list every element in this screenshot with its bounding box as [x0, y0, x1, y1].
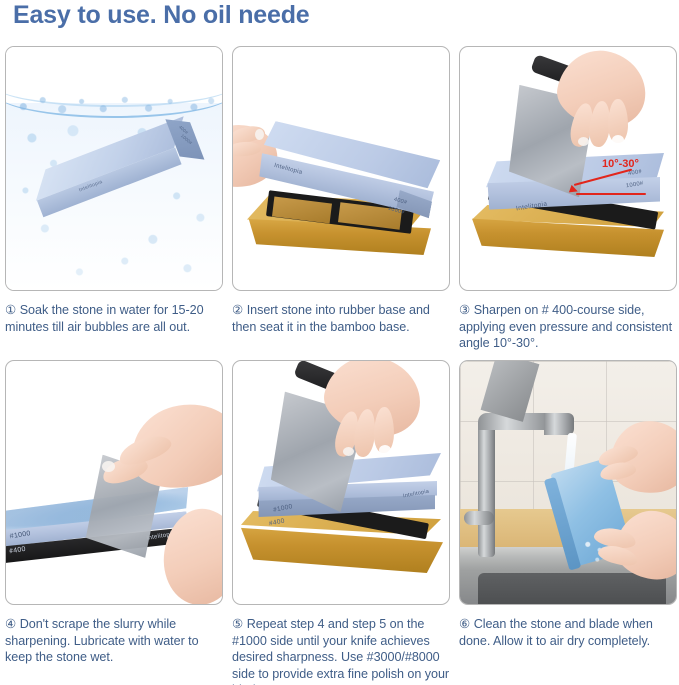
page-title: Easy to use. No oil neede — [13, 1, 309, 30]
step-photo-3: Intelitopia 400# 1000# — [459, 46, 677, 291]
step-caption-6: ⑥ Clean the stone and blade when done. A… — [459, 616, 677, 649]
faucet-spout — [544, 413, 574, 435]
step-card-5: #1000 #400 Intelitopia — [232, 360, 450, 685]
scene-rinse-stone — [460, 361, 676, 604]
fingernail — [102, 461, 115, 472]
step-card-1: Intelitopia 400# 1000# ① Soak the stone … — [5, 46, 223, 335]
scene-stone-submerged: Intelitopia 400# 1000# — [6, 47, 222, 290]
fingernail-1 — [578, 137, 589, 146]
step-photo-1: Intelitopia 400# 1000# — [5, 46, 223, 291]
step-photo-6 — [459, 360, 677, 605]
steps-grid: Intelitopia 400# 1000# ① Soak the stone … — [0, 46, 679, 674]
step-card-6: ⑥ Clean the stone and blade when done. A… — [459, 360, 677, 649]
scene-sharpen-1000: #1000 #400 Intelitopia — [233, 361, 449, 604]
step-photo-2: Intelitopia 400# 1000# — [232, 46, 450, 291]
scene-slurry-stone: #1000 #400 Intelitopia — [6, 361, 222, 604]
step-photo-4: #1000 #400 Intelitopia — [5, 360, 223, 605]
steps-row-top: Intelitopia 400# 1000# ① Soak the stone … — [0, 46, 679, 360]
faucet-handle — [464, 511, 494, 525]
angle-indicator — [570, 175, 646, 197]
step-card-4: #1000 #400 Intelitopia ④ — [5, 360, 223, 666]
faucet-column — [478, 423, 495, 557]
step-card-3: Intelitopia 400# 1000# — [459, 46, 677, 352]
step-caption-4: ④ Don't scrape the slurry while sharpeni… — [5, 616, 223, 666]
instruction-infographic: Easy to use. No oil neede — [0, 0, 679, 685]
angle-annotation-label: 10°-30° — [602, 158, 639, 170]
step-card-2: Intelitopia 400# 1000# ② Insert stone in… — [232, 46, 450, 335]
step-caption-1: ① Soak the stone in water for 15-20 minu… — [5, 302, 223, 335]
fingernail-1 — [343, 447, 354, 456]
step-caption-2: ② Insert stone into rubber base and then… — [232, 302, 450, 335]
fingernail-2 — [379, 445, 391, 455]
scene-insert-stone: Intelitopia 400# 1000# — [233, 47, 449, 290]
scene-sharpen-angle: Intelitopia 400# 1000# — [460, 47, 676, 290]
grit-label-coarse: #400 — [268, 518, 285, 528]
step-caption-5: ⑤ Repeat step 4 and step 5 on the #1000 … — [232, 616, 450, 685]
step-photo-5: #1000 #400 Intelitopia — [232, 360, 450, 605]
step-caption-3: ③ Sharpen on # 400-course side, applying… — [459, 302, 677, 352]
steps-row-bottom: #1000 #400 Intelitopia ④ — [0, 360, 679, 674]
fingernail-2 — [612, 135, 624, 145]
